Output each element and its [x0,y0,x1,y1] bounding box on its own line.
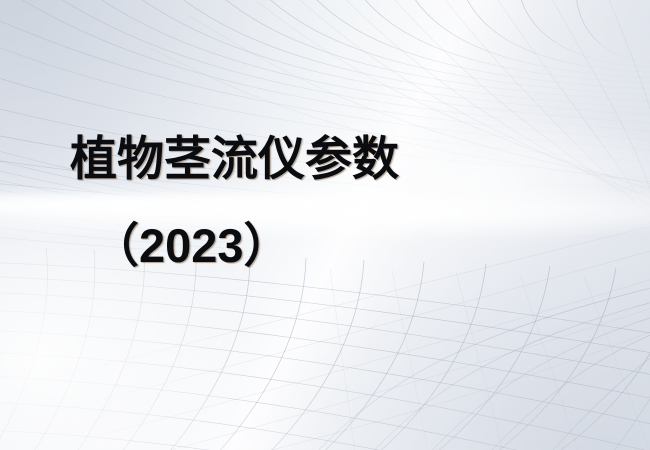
presentation-slide: 植物茎流仪参数 （2023） [0,0,650,450]
page-title: 植物茎流仪参数 [70,131,399,187]
page-subtitle-year: （2023） [92,218,291,274]
